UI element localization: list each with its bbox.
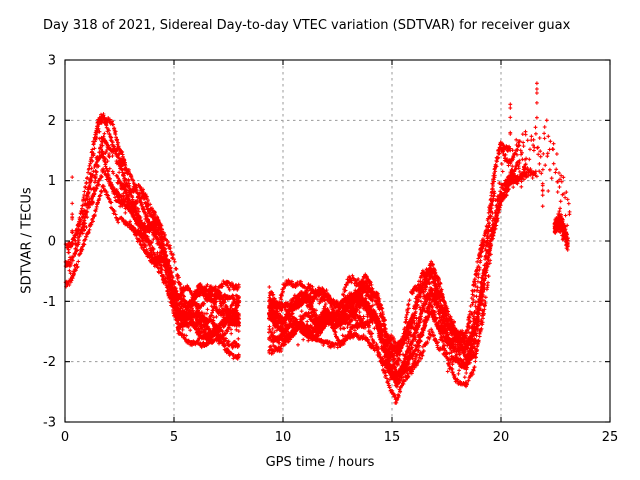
svg-text:15: 15 — [384, 430, 401, 445]
svg-text:3: 3 — [48, 54, 56, 69]
svg-text:0: 0 — [48, 235, 56, 250]
axis-tick-labels: -3-2-101230510152025 — [43, 54, 618, 446]
svg-text:20: 20 — [493, 430, 510, 445]
svg-text:25: 25 — [602, 430, 619, 445]
x-axis-label: GPS time / hours — [0, 455, 640, 470]
svg-text:5: 5 — [170, 430, 178, 445]
svg-text:-1: -1 — [43, 295, 56, 310]
svg-text:2: 2 — [48, 114, 56, 129]
svg-text:10: 10 — [275, 430, 292, 445]
svg-text:0: 0 — [61, 430, 69, 445]
svg-text:1: 1 — [48, 174, 56, 189]
svg-text:-2: -2 — [43, 355, 56, 370]
data-points — [64, 81, 572, 404]
y-axis-label: SDTVAR / TECUs — [20, 141, 35, 341]
svg-text:-3: -3 — [43, 416, 56, 431]
scatter-plot-canvas: -3-2-101230510152025 — [0, 0, 640, 480]
chart-container: Day 318 of 2021, Sidereal Day-to-day VTE… — [0, 0, 640, 480]
